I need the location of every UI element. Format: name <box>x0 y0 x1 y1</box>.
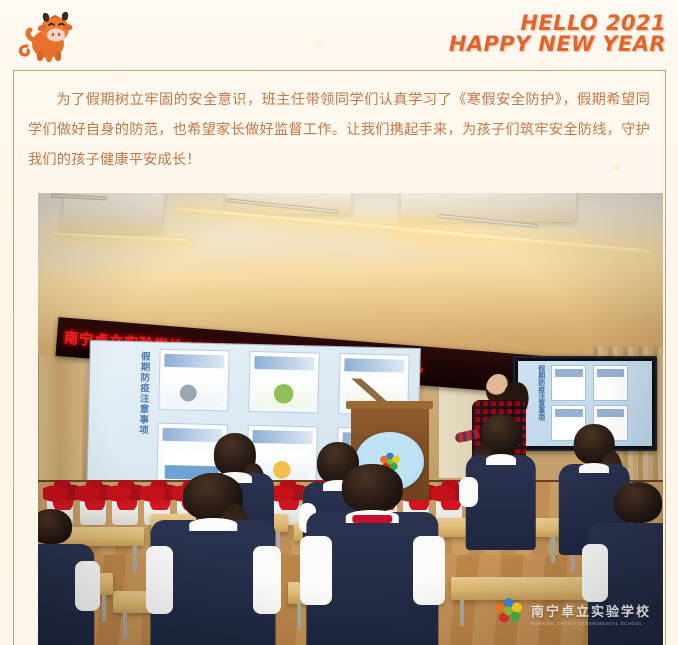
new-year-greeting: HELLO 2021 HAPPY NEW YEAR <box>449 13 666 56</box>
school-flower-logo-icon <box>493 596 525 631</box>
school-watermark: 南宁卓立实验学校 NANNING ZHUOLI EXPERIMENTAL SCH… <box>493 596 651 631</box>
projection-title: 假期防疫注意事项 <box>104 351 150 482</box>
student <box>151 473 276 645</box>
ceremony-photo: 南宁卓立实验学校2020-2021学年度上学期散学典礼 假期防疫注意事项 假期防… <box>38 193 663 645</box>
page-header: HELLO 2021 HAPPY NEW YEAR <box>0 0 678 72</box>
student <box>307 464 438 645</box>
greeting-line-2: HAPPY NEW YEAR <box>449 34 666 55</box>
student <box>38 509 94 645</box>
article-paragraph: 为了假期树立牢固的安全意识，班主任带领同学们认真学习了《寒假安全防护》，假期希望… <box>28 85 650 175</box>
poster-card <box>248 351 320 414</box>
school-name-en: NANNING ZHUOLI EXPERIMENTAL SCHOOL <box>531 621 651 626</box>
student <box>463 414 538 550</box>
school-name-cn: 南宁卓立实验学校 <box>531 601 651 620</box>
poster-card <box>158 349 230 412</box>
greeting-line-1: HELLO 2021 <box>449 13 666 34</box>
ox-mascot-icon <box>14 6 80 66</box>
article-body: 为了假期树立牢固的安全意识，班主任带领同学们认真学习了《寒假安全防护》，假期希望… <box>28 85 650 175</box>
newsletter-page: HELLO 2021 HAPPY NEW YEAR 为了假期树立牢固的安全意识，… <box>0 0 678 645</box>
